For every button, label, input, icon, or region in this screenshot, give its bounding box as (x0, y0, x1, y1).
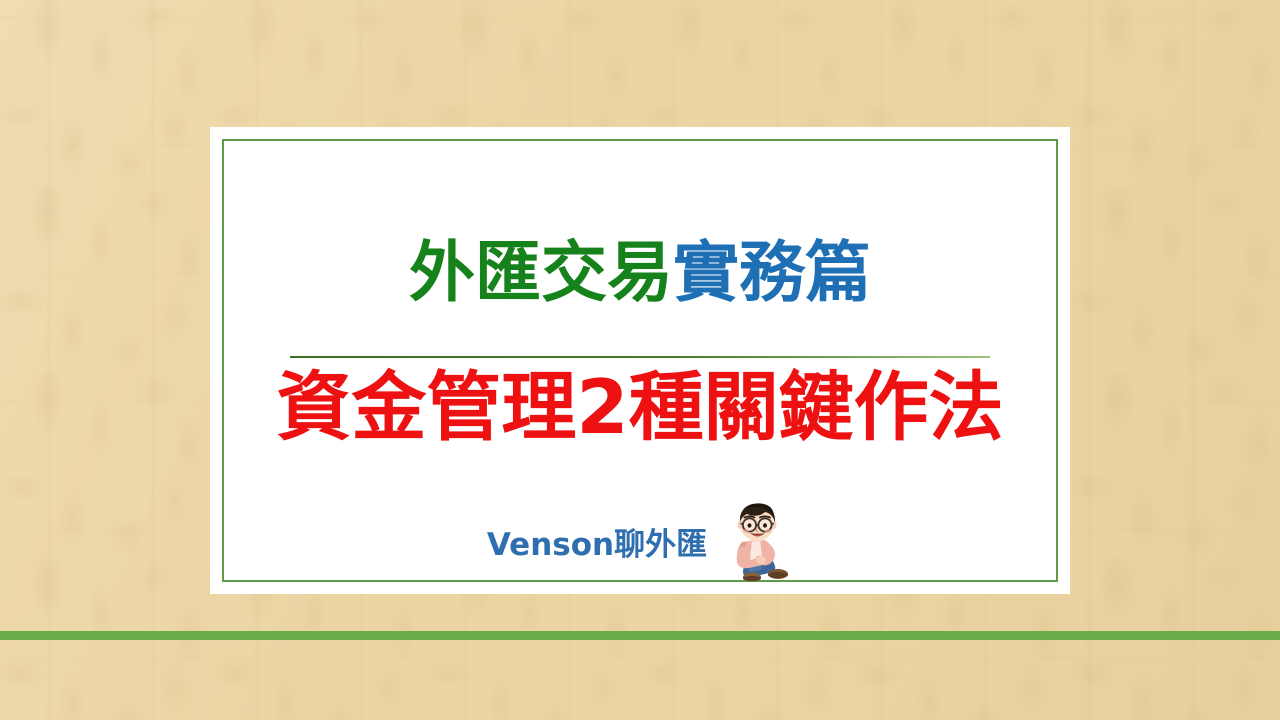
page-title-segment-green: 外匯交易 (409, 234, 673, 311)
byline-label: Venson聊外匯 (487, 519, 707, 564)
title-slide: 外匯交易實務篇 資金管理2種關鍵作法 Venson聊外匯 (0, 0, 1280, 720)
page-title: 外匯交易實務篇 (210, 240, 1070, 306)
card-content: 外匯交易實務篇 資金管理2種關鍵作法 Venson聊外匯 (210, 127, 1070, 594)
bottom-green-bar (0, 631, 1280, 640)
title-divider (290, 356, 990, 358)
page-title-segment-blue: 實務篇 (673, 234, 871, 311)
venson-avatar-icon (721, 498, 793, 584)
page-subtitle: 資金管理2種關鍵作法 (210, 370, 1070, 445)
title-card: 外匯交易實務篇 資金管理2種關鍵作法 Venson聊外匯 (210, 127, 1070, 594)
byline: Venson聊外匯 (210, 495, 1070, 587)
